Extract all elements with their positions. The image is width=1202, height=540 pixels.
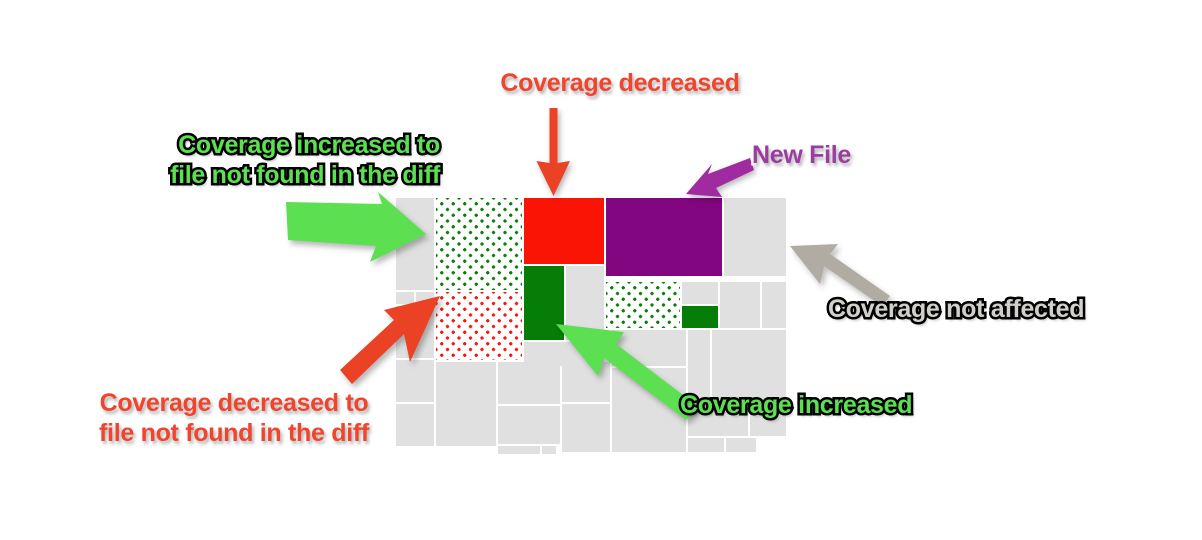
label-coverage-increased: Coverage increased <box>680 392 1000 419</box>
label-coverage-increased-not-found-line1: Coverage increased to <box>80 132 440 159</box>
tile-neutral-r-b[interactable] <box>682 282 718 304</box>
label-coverage-decreased: Coverage decreased <box>470 70 770 97</box>
tile-increased-not-in-diff[interactable] <box>436 198 522 290</box>
tile-neutral-b-c[interactable] <box>498 406 560 444</box>
tile-neutral-r-c[interactable] <box>720 282 760 328</box>
tile-neutral-b-m[interactable] <box>726 438 756 452</box>
diagram-canvas: Coverage decreased Coverage increased to… <box>0 0 1202 540</box>
label-coverage-not-affected: Coverage not affected <box>828 296 1148 323</box>
arrow-down-left-purple <box>678 158 758 213</box>
tile-neutral-b-l[interactable] <box>688 438 724 452</box>
arrow-right-green <box>286 196 436 276</box>
tile-decreased[interactable] <box>524 198 604 264</box>
tile-neutral-b-d[interactable] <box>498 446 540 454</box>
label-coverage-decreased-not-found-line2: file not found in the diff <box>62 420 406 447</box>
label-coverage-increased-not-found-line2: file not found in the diff <box>80 162 440 189</box>
tile-neutral-b-e[interactable] <box>542 446 556 454</box>
tile-neutral-b-b[interactable] <box>498 362 560 404</box>
label-coverage-decreased-not-found-line1: Coverage decreased to <box>62 390 406 417</box>
arrow-down-red <box>530 108 580 203</box>
tile-neutral-r-d[interactable] <box>762 282 786 328</box>
label-new-file: New File <box>752 142 952 169</box>
arrow-up-right-red <box>340 292 460 392</box>
